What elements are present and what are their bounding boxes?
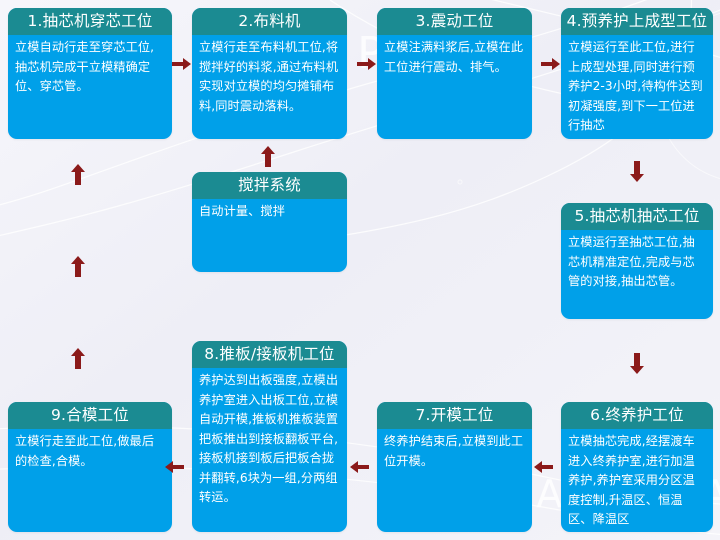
arrow-mixing-to-2	[261, 145, 275, 168]
node-station-7[interactable]: 7.开模工位 终养护结束后,立模到此工位开模。	[377, 402, 532, 532]
arrow-5-to-6	[630, 352, 644, 375]
node-body: 立模行走至此工位,做最后的检查,合模。	[8, 429, 172, 475]
flowchart-canvas: NEWS PHOTO MANA COMPANY 1.抽芯机穿芯工位 立模自动行走…	[0, 0, 720, 540]
arrow-4-to-5	[630, 160, 644, 183]
node-title: 1.抽芯机穿芯工位	[8, 8, 172, 35]
node-body: 立模抽芯完成,经摆渡车进入终养护室,进行加温养护,养护室采用分区温度控制,升温区…	[561, 429, 713, 532]
node-body: 立模运行至此工位,进行上成型处理,同时进行预养护2-3小时,待构件达到初凝强度,…	[561, 35, 713, 139]
node-title: 6.终养护工位	[561, 402, 713, 429]
node-title: 8.推板/接板机工位	[192, 341, 347, 368]
node-station-3[interactable]: 3.震动工位 立模注满料浆后,立模在此工位进行震动、排气。	[377, 8, 532, 139]
node-body: 养护达到出板强度,立模出养护室进入出板工位,立模自动开模,推板机推板装置把板推出…	[192, 368, 347, 512]
node-station-5[interactable]: 5.抽芯机抽芯工位 立模运行至抽芯工位,抽芯机精准定位,完成与芯管的对接,抽出芯…	[561, 203, 713, 319]
arrow-1-to-2	[172, 57, 192, 71]
node-station-8[interactable]: 8.推板/接板机工位 养护达到出板强度,立模出养护室进入出板工位,立模自动开模,…	[192, 341, 347, 532]
arrow-8-to-9	[164, 460, 184, 474]
node-title: 2.布料机	[192, 8, 347, 35]
node-station-6[interactable]: 6.终养护工位 立模抽芯完成,经摆渡车进入终养护室,进行加温养护,养护室采用分区…	[561, 402, 713, 532]
node-body: 立模注满料浆后,立模在此工位进行震动、排气。	[377, 35, 532, 81]
node-title: 9.合模工位	[8, 402, 172, 429]
node-title: 4.预养护上成型工位	[561, 8, 713, 35]
arrow-3-to-4	[541, 57, 561, 71]
arrow-2-to-3	[357, 57, 377, 71]
node-station-1[interactable]: 1.抽芯机穿芯工位 立模自动行走至穿芯工位,抽芯机完成干立模精确定位、穿芯管。	[8, 8, 172, 139]
node-title: 5.抽芯机抽芯工位	[561, 203, 713, 230]
arrow-7-to-8	[349, 460, 369, 474]
arrow-6-to-7	[533, 460, 553, 474]
node-title: 搅拌系统	[192, 172, 347, 199]
node-station-4[interactable]: 4.预养护上成型工位 立模运行至此工位,进行上成型处理,同时进行预养护2-3小时…	[561, 8, 713, 139]
arrow-9-to-1-seg1	[71, 163, 85, 186]
arrow-9-to-1-seg2	[71, 255, 85, 278]
node-title: 7.开模工位	[377, 402, 532, 429]
node-mixing-system[interactable]: 搅拌系统 自动计量、搅拌	[192, 172, 347, 272]
node-body: 终养护结束后,立模到此工位开模。	[377, 429, 532, 475]
node-body: 自动计量、搅拌	[192, 199, 347, 226]
node-body: 立模运行至抽芯工位,抽芯机精准定位,完成与芯管的对接,抽出芯管。	[561, 230, 713, 296]
arrow-9-to-1-seg3	[71, 347, 85, 370]
node-body: 立模自动行走至穿芯工位,抽芯机完成干立模精确定位、穿芯管。	[8, 35, 172, 101]
node-title: 3.震动工位	[377, 8, 532, 35]
node-station-9[interactable]: 9.合模工位 立模行走至此工位,做最后的检查,合模。	[8, 402, 172, 532]
node-body: 立模行走至布料机工位,将搅拌好的料浆,通过布料机实现对立模的均匀摊铺布料,同时震…	[192, 35, 347, 120]
node-station-2[interactable]: 2.布料机 立模行走至布料机工位,将搅拌好的料浆,通过布料机实现对立模的均匀摊铺…	[192, 8, 347, 139]
